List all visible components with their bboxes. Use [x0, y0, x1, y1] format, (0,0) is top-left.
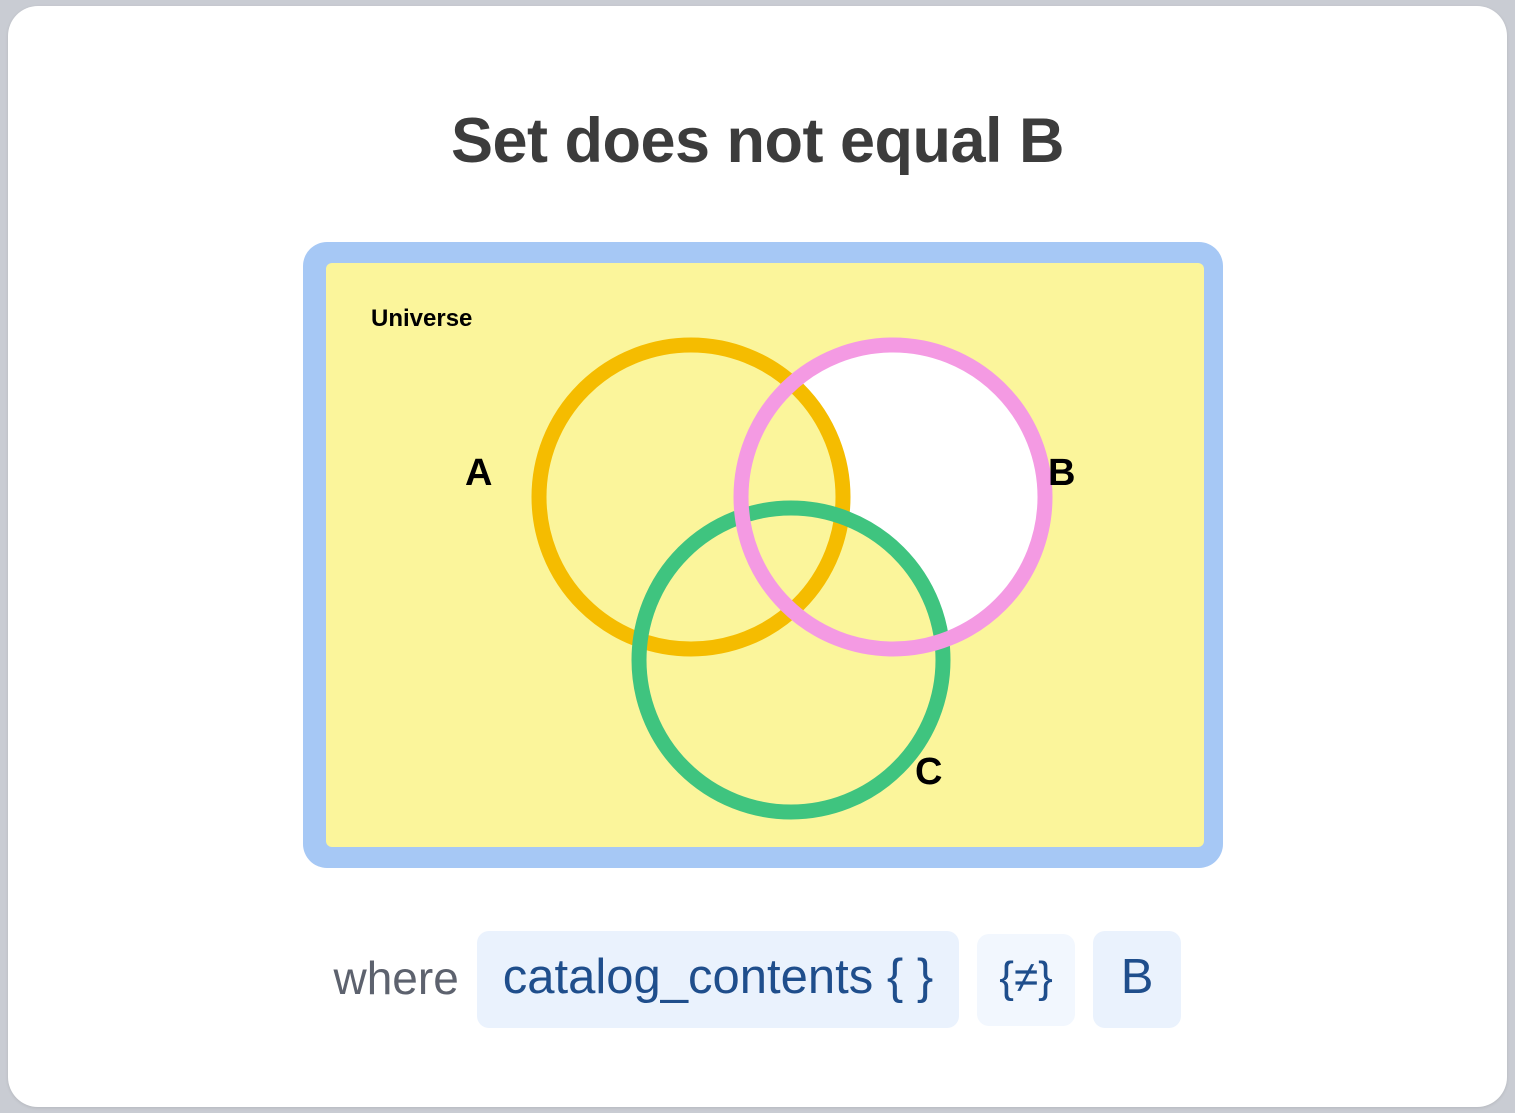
venn-card: Set does not equal B Universe A	[8, 6, 1507, 1107]
universe-label: Universe	[371, 307, 472, 331]
where-label: where	[334, 955, 459, 1005]
page-title: Set does not equal B	[8, 110, 1507, 173]
set-label-c: C	[915, 753, 942, 791]
set-label-b: B	[1048, 454, 1075, 492]
operator-chip[interactable]: {≠}	[977, 934, 1075, 1026]
field-chip[interactable]: catalog_contents { }	[477, 931, 959, 1028]
expression-row: where catalog_contents { } {≠} B	[8, 931, 1507, 1028]
venn-diagram-frame: Universe A B C	[303, 242, 1223, 868]
set-label-a: A	[465, 454, 492, 492]
universe-region: Universe A B C	[326, 263, 1204, 847]
value-chip[interactable]: B	[1093, 931, 1182, 1028]
venn-svg	[326, 263, 1204, 847]
highlight-region-b-only	[326, 263, 1204, 847]
